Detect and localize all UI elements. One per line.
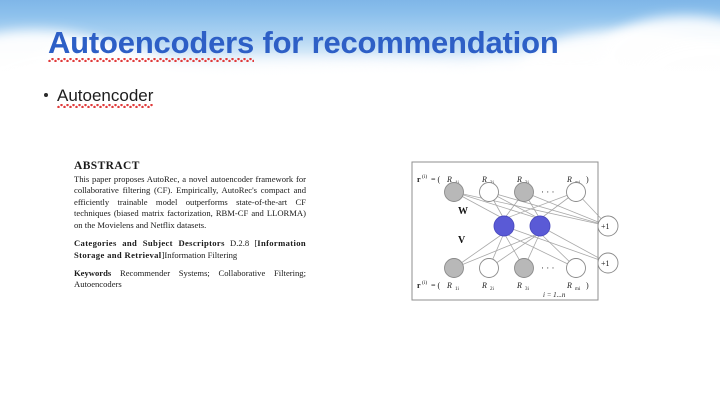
input-ellipsis: · · · [541,263,555,273]
output-node-empty [567,183,586,202]
svg-text:(i): (i) [422,173,427,180]
bias-nodes: +1 +1 [598,216,618,273]
svg-text:= (: = ( [431,281,441,290]
output-node-shaded [445,183,464,202]
slide-canvas: Autoencoders for recommendation Autoenco… [0,0,720,406]
autorec-architecture-figure: r (i) = ( R 1i R 2i R 3i R mi ) · · · [410,160,632,300]
weight-label-w: W [458,206,468,217]
svg-text:R: R [566,175,572,184]
svg-text:mi: mi [575,287,581,292]
abstract-body-text: This paper proposes AutoRec, a novel aut… [74,174,306,231]
cloud-decoration [300,68,560,86]
slide-title: Autoencoders for recommendation [48,25,559,61]
input-node-shaded [445,259,464,278]
cloud-decoration [640,42,720,86]
categories-tail: ]Information Filtering [162,250,238,260]
weight-label-v: V [458,235,466,246]
svg-text:R: R [481,281,487,290]
categories-and-subject-descriptors: Categories and Subject Descriptors D.2.8… [74,238,306,261]
cloud-decoration [600,16,720,86]
categories-code: D.2.8 [ [225,238,257,248]
bullet-dot-icon [44,93,48,97]
input-node-shaded [515,259,534,278]
figure-index-note: i = 1...n [543,291,566,299]
svg-text:): ) [586,281,589,290]
output-ellipsis: · · · [541,187,555,197]
paper-abstract-column: ABSTRACT This paper proposes AutoRec, a … [74,160,306,291]
bias-label-bottom: +1 [601,259,610,268]
abstract-heading: ABSTRACT [74,160,306,172]
svg-text:2i: 2i [490,287,495,292]
bullet-item-label: Autoencoder [57,86,153,106]
svg-text:= (: = ( [431,175,441,184]
keywords-label: Keywords [74,268,111,278]
svg-text:r: r [417,281,421,290]
svg-text:3i: 3i [525,287,530,292]
cloud-decoration [160,62,460,86]
categories-label: Categories and Subject Descriptors [74,238,225,248]
cloud-decoration [0,58,220,86]
svg-text:R: R [566,281,572,290]
slide-title-misspelled-word: Autoencoders [48,25,254,61]
svg-text:R: R [516,281,522,290]
svg-text:1i: 1i [455,287,460,292]
keywords-paragraph: Keywords Recommender Systems; Collaborat… [74,268,306,291]
output-node-shaded [515,183,534,202]
svg-text:): ) [586,175,589,184]
bullet-list-item: Autoencoder [44,86,153,106]
svg-text:R: R [446,281,452,290]
input-node-empty [567,259,586,278]
svg-text:(i): (i) [422,279,427,286]
output-node-empty [480,183,499,202]
hidden-node [494,216,514,236]
svg-text:r: r [417,175,421,184]
hidden-node [530,216,550,236]
input-node-empty [480,259,499,278]
cloud-decoration [380,72,600,86]
bias-label-top: +1 [601,222,610,231]
slide-title-rest: for recommendation [254,25,559,60]
